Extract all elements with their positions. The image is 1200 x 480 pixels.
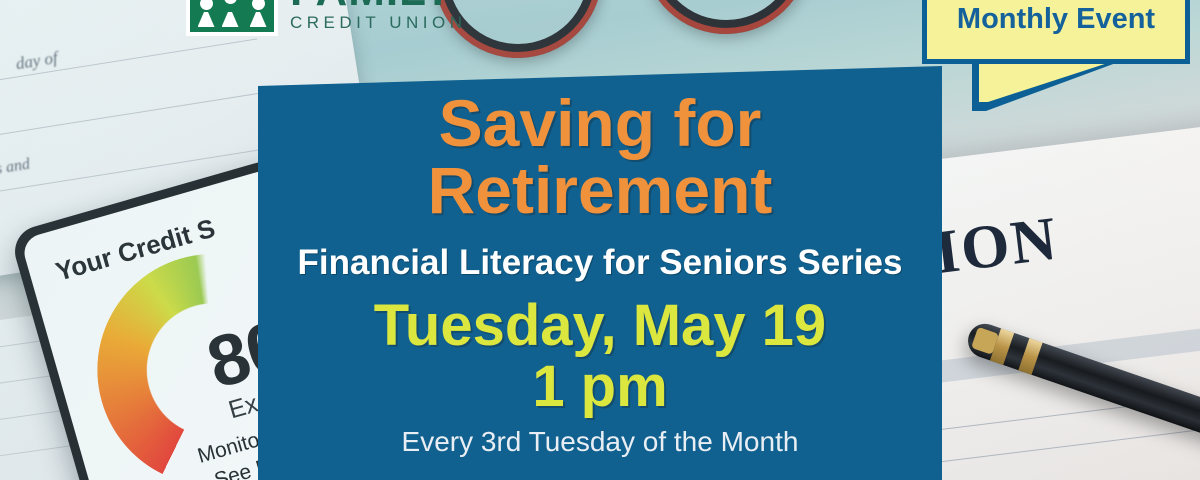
family-logo-icon [186,0,278,36]
event-recurrence: Every 3rd Tuesday of the Month [280,426,920,458]
family-figure-left [198,0,215,27]
event-info-panel: Saving for Retirement Financial Literacy… [258,48,942,480]
event-series-subtitle: Financial Literacy for Seniors Series [280,243,920,283]
event-title: Saving for Retirement [280,90,920,225]
monthly-event-badge: MANCHESTER COMMUNITY LIBRARY Monthly Eve… [922,0,1190,104]
family-logo-wordmark: FAMILY CREDIT UNION [290,0,466,36]
bubble-body: MANCHESTER COMMUNITY LIBRARY Monthly Eve… [922,0,1190,64]
family-figure-right [250,0,267,27]
family-logo-subtitle: CREDIT UNION [290,12,466,34]
family-logo-name: FAMILY [290,0,466,12]
event-date: Tuesday, May 19 [280,295,920,356]
event-type-label: Monthly Event [927,3,1185,36]
event-title-line-1: Saving for [280,90,920,157]
family-credit-union-logo: FAMILY CREDIT UNION [186,0,486,36]
event-datetime: Tuesday, May 19 1 pm [280,295,920,418]
event-time: 1 pm [280,356,920,417]
event-panel-content: Saving for Retirement Financial Literacy… [258,48,942,458]
family-figure-center [222,0,243,27]
event-title-line-2: Retirement [280,157,920,224]
